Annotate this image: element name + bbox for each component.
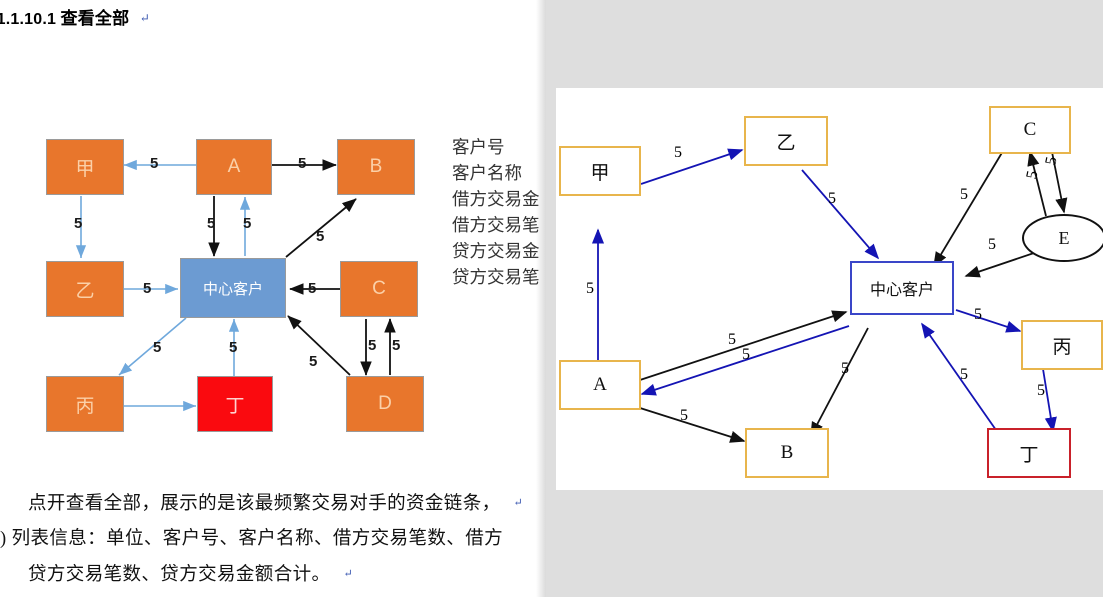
node-b[interactable]: B bbox=[745, 428, 829, 478]
edge-weight-center-bing: 5 bbox=[974, 306, 982, 324]
edge-weight-center-b: 5 bbox=[316, 228, 324, 245]
node-label: B bbox=[370, 156, 383, 178]
edge-weight-a-jia: 5 bbox=[586, 280, 594, 298]
node-label: 中心客户 bbox=[870, 276, 934, 300]
panel-edge-shadow bbox=[536, 0, 546, 597]
node-e[interactable]: E bbox=[1022, 214, 1103, 262]
node-label: 甲 bbox=[590, 158, 609, 185]
edge-weight-center-b: 5 bbox=[841, 360, 849, 378]
node-label: D bbox=[378, 393, 392, 415]
edge-weight-c-center: 5 bbox=[960, 186, 968, 204]
node-label: 丙 bbox=[1052, 332, 1071, 359]
node-ding[interactable]: 丁 bbox=[197, 376, 273, 432]
body-paragraph-3: 贷方交易笔数、贷方交易金额合计。 ↵ bbox=[28, 560, 353, 586]
image-viewer-panel: 甲 乙 C E 中心客户 丙 A B 丁 bbox=[546, 0, 1103, 597]
screen-root: .1.1.10.1 查看全部 ↵ bbox=[0, 0, 1103, 597]
node-ding[interactable]: 丁 bbox=[987, 428, 1071, 478]
edge-weight-a-center: 5 bbox=[728, 331, 736, 349]
edge-weight-ding-center: 5 bbox=[960, 366, 968, 384]
node-label: 乙 bbox=[75, 276, 94, 303]
node-label: E bbox=[1059, 228, 1070, 249]
node-label: C bbox=[1024, 119, 1037, 141]
node-bing[interactable]: 丙 bbox=[46, 376, 124, 432]
edge-weight-a-b: 5 bbox=[680, 407, 688, 425]
node-c[interactable]: C bbox=[340, 261, 418, 317]
edge-weight-e-center: 5 bbox=[988, 236, 996, 254]
edge-weight-d-center: 5 bbox=[309, 353, 317, 370]
node-label: 乙 bbox=[776, 128, 795, 155]
edge-weight-bing-ding: 5 bbox=[1037, 382, 1045, 400]
edge-weight-c-center: 5 bbox=[308, 280, 316, 297]
node-jia[interactable]: 甲 bbox=[46, 139, 124, 195]
node-a[interactable]: A bbox=[559, 360, 641, 410]
node-center-customer[interactable]: 中心客户 bbox=[180, 258, 286, 318]
node-a[interactable]: A bbox=[196, 139, 272, 195]
edge-weight-center-a: 5 bbox=[742, 346, 750, 364]
edge-weight-a-jia: 5 bbox=[150, 155, 158, 172]
pilcrow-icon: ↵ bbox=[514, 497, 524, 509]
edge-weight-jia-yi: 5 bbox=[674, 144, 682, 162]
edge-weight-yi-center: 5 bbox=[143, 280, 151, 297]
node-label: A bbox=[593, 374, 607, 396]
node-yi[interactable]: 乙 bbox=[46, 261, 124, 317]
edge-weight-center-a: 5 bbox=[243, 215, 251, 232]
left-funds-chain-diagram: 甲 A B 乙 中心客户 C 丙 丁 D bbox=[0, 0, 546, 470]
node-center-customer[interactable]: 中心客户 bbox=[850, 261, 954, 315]
edge-weight-ding-center: 5 bbox=[229, 339, 237, 356]
edge-weight-center-bing: 5 bbox=[153, 339, 161, 356]
node-label: A bbox=[228, 156, 241, 178]
node-label: 丁 bbox=[1019, 440, 1038, 467]
node-jia[interactable]: 甲 bbox=[559, 146, 641, 196]
edge-weight-a-center: 5 bbox=[207, 215, 215, 232]
node-label: 中心客户 bbox=[203, 278, 263, 299]
edge-weight-d-c: 5 bbox=[392, 337, 400, 354]
body-text: 点开查看全部，展示的是该最频繁交易对手的资金链条， bbox=[28, 494, 501, 514]
edge-weight-jia-yi: 5 bbox=[74, 215, 82, 232]
body-text: 贷方交易笔数、贷方交易金额合计。 bbox=[28, 565, 330, 585]
node-b[interactable]: B bbox=[337, 139, 415, 195]
node-label: 丙 bbox=[75, 391, 94, 418]
body-text: ) 列表信息：单位、客户号、客户名称、借方交易笔数、借方 bbox=[0, 529, 503, 549]
edge-weight-c-d: 5 bbox=[368, 337, 376, 354]
node-label: 甲 bbox=[75, 154, 94, 181]
body-paragraph-1: 点开查看全部，展示的是该最频繁交易对手的资金链条， ↵ bbox=[28, 489, 523, 515]
node-label: 丁 bbox=[225, 391, 244, 418]
edge-weight-yi-center: 5 bbox=[828, 190, 836, 208]
node-label: B bbox=[781, 442, 794, 464]
node-yi[interactable]: 乙 bbox=[744, 116, 828, 166]
node-label: C bbox=[372, 278, 386, 300]
document-panel: .1.1.10.1 查看全部 ↵ bbox=[0, 0, 546, 597]
node-bing[interactable]: 丙 bbox=[1021, 320, 1103, 370]
node-c[interactable]: C bbox=[989, 106, 1071, 154]
edge-weight-a-b: 5 bbox=[298, 155, 306, 172]
node-d[interactable]: D bbox=[346, 376, 424, 432]
right-funds-chain-diagram: 甲 乙 C E 中心客户 丙 A B 丁 bbox=[556, 88, 1103, 490]
body-paragraph-2: ) 列表信息：单位、客户号、客户名称、借方交易笔数、借方 bbox=[0, 524, 503, 550]
pilcrow-icon: ↵ bbox=[343, 568, 353, 580]
